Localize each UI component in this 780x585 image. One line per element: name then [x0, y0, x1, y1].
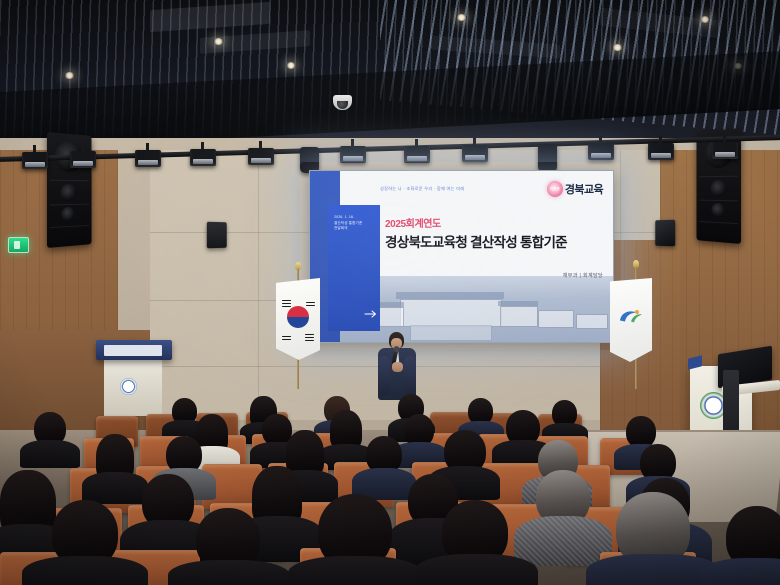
- slide-blue-card: 2026. 1. 16. 결산작성 통합기준 전달회의: [328, 205, 380, 331]
- presentation-slide: 성장하는 나 · 조화로운 우리 · 함께 여는 미래 따뜻한 경북교육 202…: [310, 171, 613, 342]
- slide-kicker: 2025회계연도: [385, 215, 605, 230]
- ceiling-downlight: [700, 16, 710, 23]
- stage-light: [135, 150, 161, 167]
- arrow-right-icon: [364, 309, 378, 319]
- slide-tagline: 성장하는 나 · 조화로운 우리 · 함께 여는 미래: [380, 186, 464, 192]
- stage-light: [248, 148, 274, 165]
- stage-light: [588, 143, 614, 160]
- slide-header: 성장하는 나 · 조화로운 우리 · 함께 여는 미래 따뜻한 경북교육: [380, 177, 607, 203]
- wall-seam: [258, 150, 259, 420]
- auditorium-photo: 성장하는 나 · 조화로운 우리 · 함께 여는 미래 따뜻한 경북교육 202…: [0, 0, 780, 585]
- lectern-top-panel: [104, 345, 162, 356]
- stage-light: [712, 142, 738, 159]
- institution-logo: 따뜻한 경북교육: [547, 181, 603, 197]
- moving-head-light: [538, 144, 557, 172]
- stage-light: [70, 151, 96, 168]
- stage-light: [22, 152, 48, 169]
- slide-title: 경상북도교육청 결산작성 통합기준: [385, 231, 605, 251]
- flag-cloth: [610, 278, 652, 362]
- ceiling-downlight: [213, 38, 224, 45]
- south-korea-flag: [272, 262, 324, 390]
- line-array-speaker-left: [47, 132, 92, 248]
- stage-light: [404, 146, 430, 163]
- logo-emblem-text: 따뜻한: [547, 186, 563, 191]
- slide-blue-card-text: 2026. 1. 16. 결산작성 통합기준 전달회의: [334, 215, 376, 232]
- logo-text: 경북교육: [565, 181, 603, 197]
- flag-cloth: [276, 278, 320, 360]
- ceiling-downlight: [286, 62, 296, 69]
- logo-emblem-icon: 따뜻한: [547, 181, 563, 197]
- wall-speaker-right: [655, 220, 675, 247]
- stage-light: [190, 149, 216, 166]
- emergency-exit-sign-icon: [8, 237, 29, 253]
- slide-department: 재무과 | 회계담당: [563, 272, 603, 279]
- projection-screen: 성장하는 나 · 조화로운 우리 · 함께 여는 미래 따뜻한 경북교육 202…: [309, 170, 614, 343]
- wall-speaker-left: [207, 222, 227, 249]
- taeguk-symbol: [287, 306, 309, 328]
- stage-light: [648, 143, 674, 160]
- stage-light: [462, 145, 488, 162]
- wall-seam: [150, 366, 600, 367]
- stage-light: [340, 146, 366, 163]
- ceiling-downlight: [456, 14, 467, 21]
- blue-card-line3: 전달회의: [334, 226, 376, 232]
- institution-emblem-icon: [618, 308, 644, 325]
- ceiling-downlight: [64, 72, 75, 79]
- slide-title-block: 2025회계연도 경상북도교육청 결산작성 통합기준: [385, 215, 605, 251]
- institution-flag: [606, 260, 660, 390]
- flag-fringe: [610, 361, 652, 367]
- slide-building-photo: [340, 276, 613, 342]
- ceiling-downlight: [612, 44, 623, 51]
- lectern-emblem-icon: [120, 378, 137, 395]
